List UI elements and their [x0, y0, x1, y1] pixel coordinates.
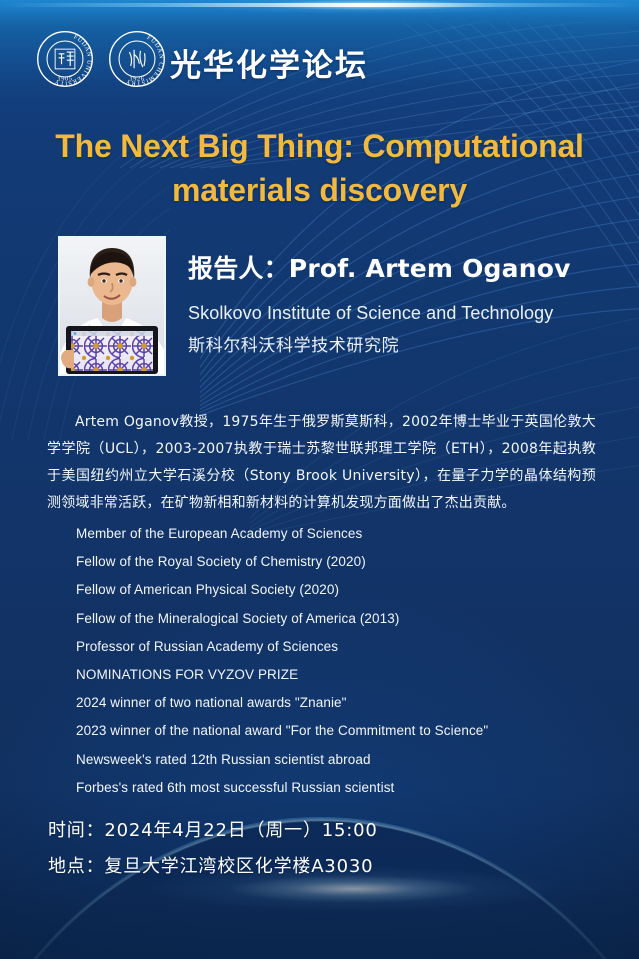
- event-time: 时间：2024年4月22日（周一）15:00: [48, 813, 378, 849]
- speaker-biography: Artem Oganov教授，1975年生于俄罗斯莫斯科，2002年博士毕业于英…: [47, 409, 596, 517]
- list-item: Fellow of American Physical Society (202…: [76, 576, 616, 604]
- list-item: Member of the European Academy of Scienc…: [76, 520, 616, 548]
- list-item: Fellow of the Royal Society of Chemistry…: [76, 548, 616, 576]
- event-venue: 地点：复旦大学江湾校区化学楼A3030: [48, 849, 378, 885]
- list-item: NOMINATIONS FOR VYZOV PRIZE: [76, 661, 616, 689]
- list-item: 2023 winner of the national award "For t…: [76, 717, 616, 745]
- seminar-poster: FUDAN UNIVERSITY 1905 FUDAN CHEMISTRY 19…: [0, 0, 639, 959]
- svg-text:1905: 1905: [57, 75, 72, 82]
- speaker-affiliation-en: Skolkovo Institute of Science and Techno…: [188, 303, 553, 324]
- forum-title: 光华化学论坛: [170, 40, 368, 85]
- top-light-streak: [0, 3, 639, 7]
- list-item: Professor of Russian Academy of Sciences: [76, 633, 616, 661]
- logistics-block: 时间：2024年4月22日（周一）15:00 地点：复旦大学江湾校区化学楼A30…: [48, 813, 378, 885]
- top-glow-bar: [0, 0, 639, 26]
- fudan-university-logo: FUDAN UNIVERSITY 1905: [36, 30, 94, 88]
- list-item: Fellow of the Mineralogical Society of A…: [76, 605, 616, 633]
- speaker-photo: [58, 236, 166, 376]
- awards-list: Member of the European Academy of Scienc…: [76, 520, 616, 802]
- page-title: The Next Big Thing: Computational materi…: [0, 124, 639, 212]
- svg-text:1926: 1926: [129, 75, 144, 82]
- logo-group: FUDAN UNIVERSITY 1905 FUDAN CHEMISTRY 19…: [36, 30, 166, 88]
- fudan-chemistry-logo: FUDAN CHEMISTRY 1926: [108, 30, 166, 88]
- list-item: Newsweek's rated 12th Russian scientist …: [76, 746, 616, 774]
- speaker-name: 报告人：Prof. Artem Oganov: [188, 249, 571, 285]
- speaker-portrait-illustration: [60, 238, 164, 374]
- list-item: Forbes's rated 6th most successful Russi…: [76, 774, 616, 802]
- list-item: 2024 winner of two national awards "Znan…: [76, 689, 616, 717]
- speaker-affiliation-cn: 斯科尔科沃科学技术研究院: [188, 331, 399, 356]
